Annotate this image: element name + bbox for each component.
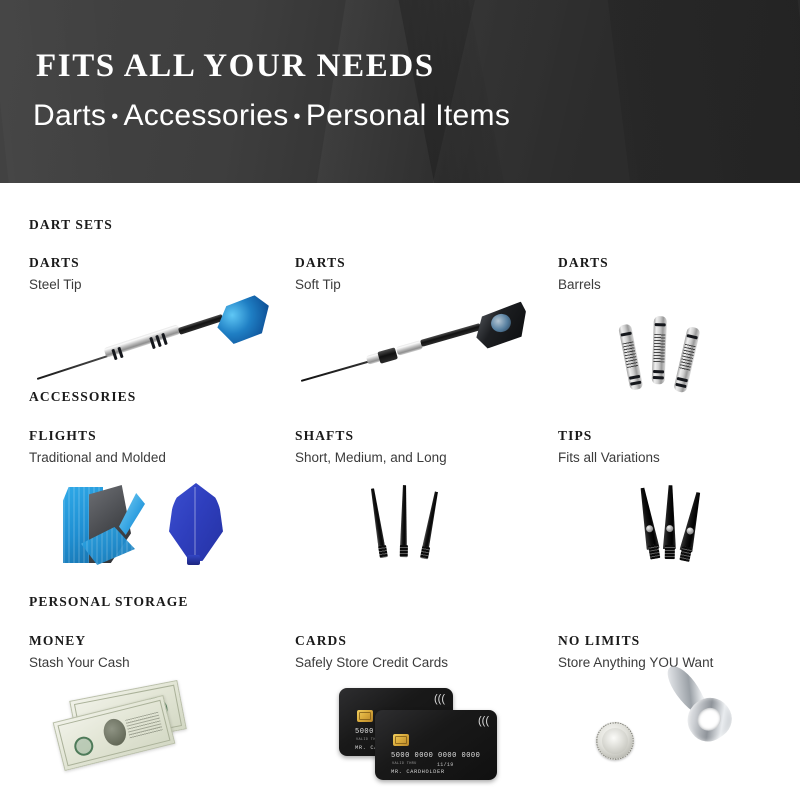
- card-number: 5000 0000 0000 0000: [391, 752, 480, 760]
- chip-icon: [357, 710, 373, 722]
- art-steel-tip-dart: [29, 302, 269, 397]
- card-tips: TIPS Fits all Variations: [558, 428, 798, 570]
- card-shafts: SHAFTS Short, Medium, and Long: [295, 428, 535, 570]
- card-money: MONEY Stash Your Cash: [29, 633, 269, 775]
- dart-shaft: [420, 323, 482, 347]
- art-dart-barrels: [558, 302, 798, 397]
- infographic-page: FITS ALL YOUR NEEDS Darts•Accessories•Pe…: [0, 0, 800, 800]
- art-bottle-opener: [558, 680, 798, 775]
- barrel-ring: [655, 323, 666, 326]
- barrel-grip: [377, 347, 398, 363]
- dart-shaft: [178, 314, 224, 335]
- art-dart-tips: [558, 475, 798, 570]
- banner-separator-1: •: [106, 106, 123, 128]
- shaft-thread: [420, 546, 430, 559]
- contactless-icon: (((: [478, 716, 489, 727]
- art-dart-shafts: [295, 475, 535, 570]
- section-label-personal-storage: PERSONAL STORAGE: [29, 594, 189, 610]
- dart-needle: [301, 360, 373, 382]
- card-title: DARTS: [558, 255, 798, 271]
- barrel-ring: [653, 376, 664, 379]
- shaft-body: [369, 488, 386, 550]
- contactless-icon: (((: [434, 694, 445, 705]
- card-desc: Stash Your Cash: [29, 655, 269, 670]
- art-credit-cards: ((( 5000 0000 0000 0000 VALID THRU MR. C…: [295, 680, 535, 775]
- art-dart-flights: [29, 475, 269, 570]
- cap-face: [602, 728, 628, 754]
- bottle-cap: [596, 722, 634, 760]
- banner-background: [0, 0, 800, 183]
- barrel-knurl: [653, 334, 665, 362]
- flight-molded-stem: [187, 555, 200, 565]
- card-no-limits: NO LIMITS Store Anything YOU Want: [558, 633, 798, 775]
- card-desc: Barrels: [558, 277, 798, 292]
- card-darts-steel-tip: DARTS Steel Tip: [29, 255, 269, 397]
- tip-body: [663, 485, 677, 549]
- shaft-body: [422, 491, 440, 551]
- card-title: NO LIMITS: [558, 633, 798, 649]
- shaft-body: [400, 485, 408, 549]
- card-desc: Fits all Variations: [558, 450, 798, 465]
- card-valid-label: VALID THRU: [392, 762, 417, 766]
- card-desc: Safely Store Credit Cards: [295, 655, 535, 670]
- card-credit-cards: CARDS Safely Store Credit Cards ((( 5000…: [295, 633, 535, 775]
- banner-subtitle-part-3: Personal Items: [306, 99, 510, 132]
- chip-icon: [393, 734, 409, 746]
- card-title: TIPS: [558, 428, 798, 444]
- flight-molded: [169, 483, 223, 561]
- barrel-ring: [653, 370, 664, 373]
- banner-subtitle-part-2: Accessories: [124, 99, 289, 132]
- header-banner: FITS ALL YOUR NEEDS Darts•Accessories•Pe…: [0, 0, 800, 183]
- card-title: DARTS: [295, 255, 535, 271]
- tip-highlight-dot: [666, 525, 673, 532]
- card-desc: Steel Tip: [29, 277, 269, 292]
- card-darts-soft-tip: DARTS Soft Tip: [295, 255, 535, 397]
- art-soft-tip-dart: [295, 302, 535, 397]
- banner-subtitle-part-1: Darts: [33, 99, 106, 132]
- card-desc: Short, Medium, and Long: [295, 450, 535, 465]
- section-label-dart-sets: DART SETS: [29, 217, 113, 233]
- dart-barrel: [396, 340, 423, 356]
- flight-molded-seam: [194, 487, 196, 555]
- banner-title: FITS ALL YOUR NEEDS: [36, 48, 435, 85]
- shaft-thread: [400, 545, 408, 557]
- card-title: CARDS: [295, 633, 535, 649]
- card-title: FLIGHTS: [29, 428, 269, 444]
- card-desc: Soft Tip: [295, 277, 535, 292]
- card-title: DARTS: [29, 255, 269, 271]
- dart-needle: [37, 354, 112, 380]
- shaft-thread: [378, 545, 388, 558]
- tip-body: [680, 491, 705, 552]
- card-darts-barrels: DARTS Barrels: [558, 255, 798, 397]
- section-label-accessories: ACCESSORIES: [29, 389, 136, 405]
- card-title: SHAFTS: [295, 428, 535, 444]
- banner-separator-2: •: [289, 106, 306, 128]
- card-flights: FLIGHTS Traditional and Molded: [29, 428, 269, 570]
- banner-subtitle: Darts•Accessories•Personal Items: [33, 99, 510, 133]
- card-holder-name: MR. CARDHOLDER: [391, 769, 445, 775]
- tip-body: [636, 487, 660, 550]
- credit-card-front: ((( 5000 0000 0000 0000 VALID THRU 11/19…: [375, 710, 497, 780]
- art-dollar-bills: [29, 680, 269, 775]
- card-desc: Traditional and Molded: [29, 450, 269, 465]
- tip-thread: [665, 545, 675, 559]
- card-valid-value: 11/19: [437, 762, 454, 768]
- card-title: MONEY: [29, 633, 269, 649]
- tip-thread: [679, 546, 692, 562]
- tip-thread: [648, 544, 660, 560]
